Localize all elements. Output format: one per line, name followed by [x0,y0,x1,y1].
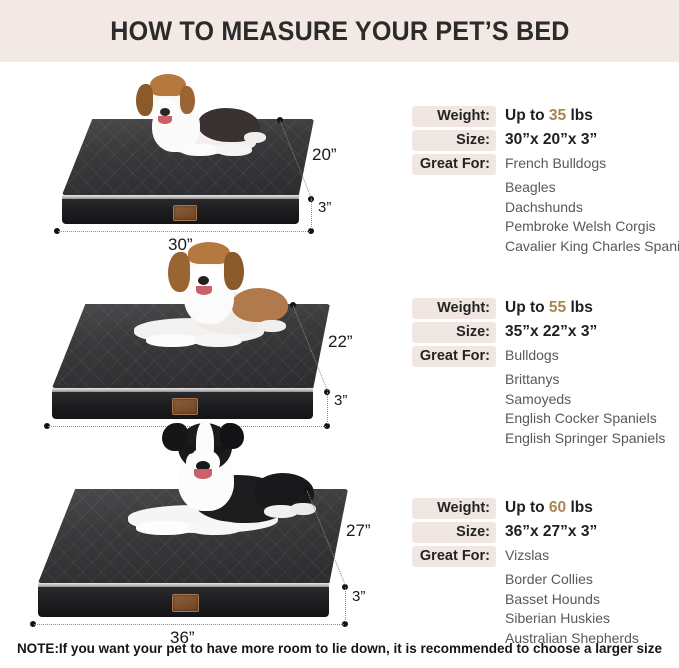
bed-small [62,119,314,224]
breed-item: French Bulldogs [496,155,606,171]
dim-line-height [345,587,346,622]
spec-row-great-for: Great For: French Bulldogs [412,154,679,175]
bed-illustration-medium: 35” 3” 22” [0,242,400,437]
bed-large [38,489,348,617]
breed-item: Brittanys [505,370,679,390]
breed-item: Border Collies [505,570,679,590]
dim-line-width [48,426,326,427]
header-band: HOW TO MEASURE YOUR PET’S BED [0,0,679,62]
dim-line-width [34,624,344,625]
brand-logo-patch [173,205,197,221]
value-size: 35”x 22”x 3” [496,323,597,341]
bed-side-band [62,199,299,224]
brand-logo-patch [172,594,199,612]
bed-quilted-top [62,119,314,195]
dim-label-height: 3” [334,392,347,409]
bed-medium [52,304,330,419]
product-row-medium: 35” 3” 22” Weight: Up to 55 lbs Size: 35… [0,242,679,437]
spec-row-weight: Weight: Up to 60 lbs [412,498,679,519]
breed-item: English Cocker Spaniels [505,409,679,429]
label-great-for: Great For: [412,546,496,567]
dim-line-height [311,199,312,229]
dim-label-height: 3” [352,588,365,605]
bed-side-band [38,587,329,617]
bed-illustration-large: 36” 3” 27” [0,437,400,635]
breed-list: Border Collies Basset Hounds Siberian Hu… [505,570,679,648]
label-size: Size: [412,522,496,543]
dim-line-width [58,231,310,232]
page-title: HOW TO MEASURE YOUR PET’S BED [110,16,569,47]
brand-logo-patch [172,398,198,415]
label-weight: Weight: [412,298,496,319]
value-size: 36”x 27”x 3” [496,523,597,541]
spec-block-medium: Weight: Up to 55 lbs Size: 35”x 22”x 3” … [412,298,679,448]
label-size: Size: [412,130,496,151]
value-size: 30”x 20”x 3” [496,131,597,149]
breed-item: Siberian Huskies [505,609,679,629]
spec-row-weight: Weight: Up to 35 lbs [412,106,679,127]
dim-label-height: 3” [318,199,331,216]
product-row-small: 30” 3” 20” Weight: Up to 35 lbs Size: 30… [0,62,679,242]
breed-item: Dachshunds [505,198,679,218]
dim-label-depth: 27” [346,521,371,541]
spec-row-size: Size: 35”x 22”x 3” [412,322,679,343]
label-weight: Weight: [412,498,496,519]
breed-item: Vizslas [496,547,549,563]
value-weight: Up to 35 lbs [496,107,593,125]
label-great-for: Great For: [412,346,496,367]
dim-label-depth: 20” [312,145,337,165]
label-weight: Weight: [412,106,496,127]
spec-row-size: Size: 30”x 20”x 3” [412,130,679,151]
value-weight: Up to 60 lbs [496,499,593,517]
spec-row-great-for: Great For: Bulldogs [412,346,679,367]
spec-row-great-for: Great For: Vizslas [412,546,679,567]
breed-item: Pembroke Welsh Corgis [505,217,679,237]
spec-block-small: Weight: Up to 35 lbs Size: 30”x 20”x 3” … [412,106,679,256]
spec-block-large: Weight: Up to 60 lbs Size: 36”x 27”x 3” … [412,498,679,648]
breed-item: Bulldogs [496,347,559,363]
bed-side-band [52,392,313,419]
bed-quilted-top [38,489,348,583]
breed-item: Samoyeds [505,390,679,410]
spec-row-size: Size: 36”x 27”x 3” [412,522,679,543]
breed-item: Basset Hounds [505,590,679,610]
footer-note: NOTE:If you want your pet to have more r… [0,641,679,656]
label-size: Size: [412,322,496,343]
breed-item: Beagles [505,178,679,198]
spec-row-weight: Weight: Up to 55 lbs [412,298,679,319]
dim-line-height [327,392,328,424]
label-great-for: Great For: [412,154,496,175]
dim-label-depth: 22” [328,332,353,352]
value-weight: Up to 55 lbs [496,299,593,317]
product-row-large: 36” 3” 27” Weight: Up to 60 lbs Size: 36… [0,437,679,635]
bed-illustration-small: 30” 3” 20” [0,62,400,242]
bed-quilted-top [52,304,330,388]
